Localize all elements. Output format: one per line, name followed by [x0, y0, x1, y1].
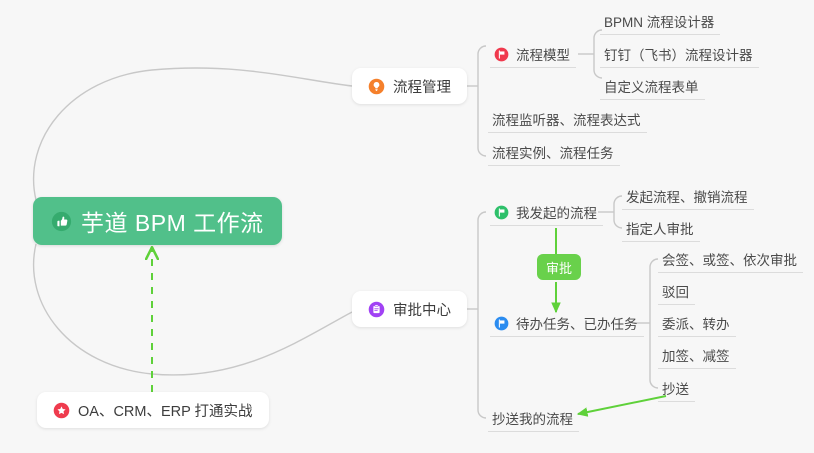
node-delegate-transfer[interactable]: 委派、转办: [658, 310, 736, 337]
node-todo-done-label: 待办任务、已办任务: [516, 313, 638, 333]
star-icon: [53, 402, 70, 419]
node-bpmn-designer[interactable]: BPMN 流程设计器: [600, 8, 720, 35]
root-node[interactable]: 芋道 BPM 工作流: [33, 197, 282, 245]
flag-green-icon: [494, 205, 509, 220]
node-my-initiated-label: 我发起的流程: [516, 202, 597, 222]
mindmap-canvas: 芋道 BPM 工作流 流程管理 流程模型 BPMN 流程设计器 钉钉（飞书）流程: [0, 0, 814, 453]
node-approval-center[interactable]: 审批中心: [352, 291, 467, 327]
node-instance-task-label: 流程实例、流程任务: [492, 142, 614, 162]
flag-red-icon: [494, 47, 509, 62]
node-approval-center-label: 审批中心: [393, 299, 451, 320]
connector-root-to-approval-center: [34, 244, 352, 375]
tag-approval[interactable]: 审批: [537, 254, 581, 280]
node-instance-task[interactable]: 流程实例、流程任务: [488, 139, 620, 166]
node-add-remove-sign-label: 加签、减签: [662, 345, 730, 365]
node-integration-footnote[interactable]: OA、CRM、ERP 打通实战: [37, 392, 269, 428]
bracket-process-management-children: [478, 46, 486, 156]
root-label: 芋道 BPM 工作流: [81, 204, 264, 238]
node-cc-label: 抄送: [662, 378, 689, 398]
node-delegate-transfer-label: 委派、转办: [662, 313, 730, 333]
node-my-initiated[interactable]: 我发起的流程: [490, 199, 603, 226]
bracket-todo-done-children: [650, 259, 658, 388]
node-custom-process-form-label: 自定义流程表单: [604, 76, 699, 96]
node-start-cancel-label: 发起流程、撤销流程: [626, 186, 748, 206]
node-reject[interactable]: 驳回: [658, 278, 695, 305]
node-process-management-label: 流程管理: [393, 76, 451, 97]
node-add-remove-sign[interactable]: 加签、减签: [658, 342, 736, 369]
node-listener-expression[interactable]: 流程监听器、流程表达式: [488, 106, 647, 133]
thumbs-up-icon: [51, 211, 72, 232]
connector-root-to-process-management: [34, 68, 352, 200]
node-bpmn-designer-label: BPMN 流程设计器: [604, 11, 714, 31]
node-dingtalk-feishu-designer-label: 钉钉（飞书）流程设计器: [604, 44, 753, 64]
flag-blue-icon: [494, 316, 509, 331]
node-process-model-label: 流程模型: [516, 44, 570, 64]
node-reject-label: 驳回: [662, 281, 689, 301]
node-integration-footnote-label: OA、CRM、ERP 打通实战: [78, 400, 253, 421]
node-listener-expression-label: 流程监听器、流程表达式: [492, 109, 641, 129]
node-dingtalk-feishu-designer[interactable]: 钉钉（飞书）流程设计器: [600, 41, 759, 68]
node-custom-process-form[interactable]: 自定义流程表单: [600, 73, 705, 100]
node-countersign-label: 会签、或签、依次审批: [662, 249, 797, 269]
node-assignee-approval[interactable]: 指定人审批: [622, 215, 700, 242]
bracket-my-initiated-children: [614, 196, 622, 228]
bracket-approval-center-children: [478, 212, 486, 418]
tag-approval-label: 审批: [546, 258, 572, 277]
flow-arrow-cc-to-ccme: [578, 396, 666, 414]
lightbulb-icon: [368, 78, 385, 95]
node-process-model[interactable]: 流程模型: [490, 41, 576, 68]
node-cc[interactable]: 抄送: [658, 375, 695, 402]
node-cc-to-me-label: 抄送我的流程: [492, 408, 573, 428]
node-assignee-approval-label: 指定人审批: [626, 218, 694, 238]
node-start-cancel[interactable]: 发起流程、撤销流程: [622, 183, 754, 210]
node-countersign[interactable]: 会签、或签、依次审批: [658, 246, 803, 273]
node-cc-to-me[interactable]: 抄送我的流程: [488, 405, 579, 432]
node-todo-done[interactable]: 待办任务、已办任务: [490, 310, 644, 337]
clipboard-icon: [368, 301, 385, 318]
node-process-management[interactable]: 流程管理: [352, 68, 467, 104]
